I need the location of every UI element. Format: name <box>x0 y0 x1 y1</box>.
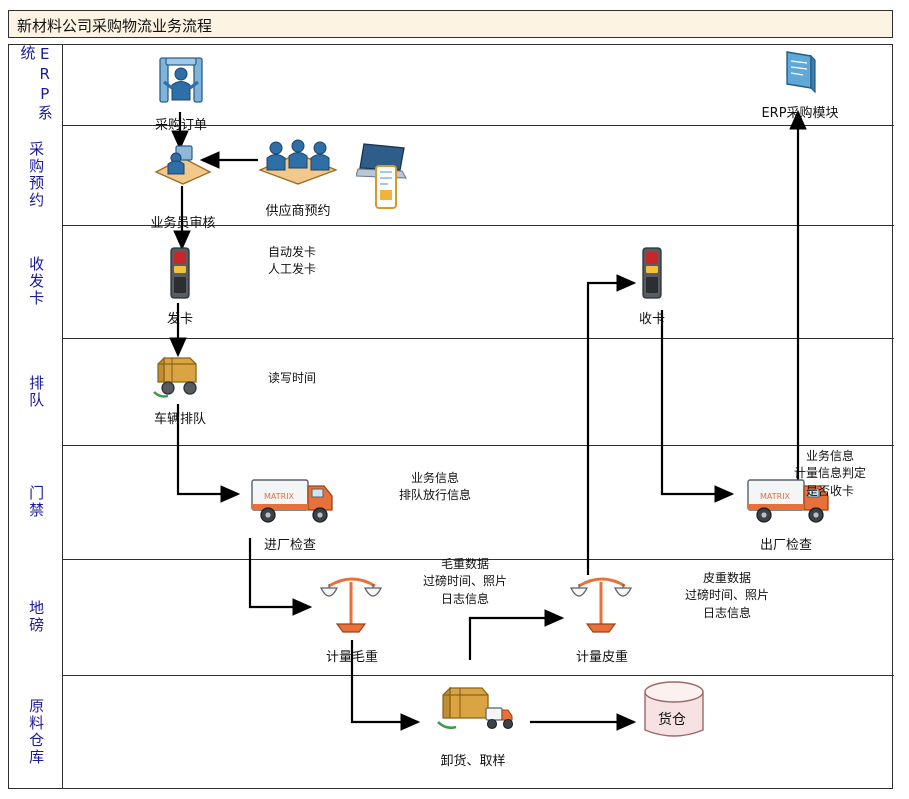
lane-label-warehouse: 原料仓库 <box>9 675 63 788</box>
node-purchase-order[interactable]: 采购订单 <box>135 52 227 133</box>
node-label: 计量皮重 <box>552 646 652 665</box>
note-line: 计量信息判定 <box>770 465 890 482</box>
note-line: 业务信息 <box>770 448 890 465</box>
node-erp-module[interactable]: ERP采购模块 <box>748 48 852 121</box>
svg-text:货仓: 货仓 <box>658 711 686 728</box>
node-label: 发卡 <box>150 308 210 327</box>
lane-divider <box>9 338 894 339</box>
balance-scale-icon <box>567 570 637 640</box>
note-tare-info: 皮重数据 过磅时间、照片 日志信息 <box>662 570 792 622</box>
note-gross-info: 毛重数据 过磅时间、照片 日志信息 <box>400 556 530 608</box>
lane-label-text: 门禁 <box>27 485 44 519</box>
cylinder-store-icon: 货仓 <box>637 680 711 742</box>
lane-label-gate: 门禁 <box>9 445 63 559</box>
note-line: 毛重数据 <box>400 556 530 573</box>
flowchart-page: 新材料公司采购物流业务流程 ERP系统 采购预约 收发卡 排队 门禁 地磅 <box>0 0 909 799</box>
people-group-icon <box>254 136 342 188</box>
node-label: ERP采购模块 <box>748 102 852 121</box>
card-kiosk-icon <box>167 246 193 300</box>
document-blue-icon <box>781 48 819 94</box>
node-laptop[interactable] <box>356 140 412 214</box>
lane-label-text: 采购预约 <box>27 141 44 209</box>
note-read-write: 读写时间 <box>232 370 352 387</box>
node-unload-sample[interactable]: 卸货、取样 <box>418 682 528 769</box>
node-label: 供应商预约 <box>248 200 348 219</box>
lane-label-text: 地磅 <box>27 600 44 634</box>
lane-label-booking: 采购预约 <box>9 125 63 225</box>
note-line: 读写时间 <box>232 370 352 387</box>
lane-divider <box>9 675 894 676</box>
node-label: 采购订单 <box>135 114 227 133</box>
node-label: 收卡 <box>622 308 682 327</box>
person-desk-icon <box>152 142 214 188</box>
note-gate-out-info: 业务信息 计量信息判定 是否收卡 <box>770 448 890 500</box>
note-line: 皮重数据 <box>662 570 792 587</box>
lane-label-text: ERP系统 <box>18 45 53 125</box>
page-title: 新材料公司采购物流业务流程 <box>17 15 212 36</box>
node-vehicle-queue[interactable]: 车辆排队 <box>138 352 222 427</box>
node-supplier-booking[interactable]: 供应商预约 <box>248 136 348 219</box>
lane-divider <box>9 445 894 446</box>
node-gross-weigh[interactable]: 计量毛重 <box>302 570 402 665</box>
note-line: 自动发卡 <box>232 244 352 261</box>
node-label: 出厂检查 <box>736 534 836 553</box>
parcel-cart-icon <box>150 352 210 400</box>
node-clerk-review[interactable]: 业务员审核 <box>135 142 231 231</box>
node-goods-warehouse[interactable]: 货仓 <box>634 680 714 746</box>
note-line: 日志信息 <box>400 591 530 608</box>
person-gate-icon <box>158 52 204 108</box>
svg-text:MATRIX: MATRIX <box>264 492 295 501</box>
note-line: 排队放行信息 <box>370 487 500 504</box>
lane-label-card: 收发卡 <box>9 225 63 338</box>
diagram-title-bar: 新材料公司采购物流业务流程 <box>8 10 893 38</box>
note-line: 是否收卡 <box>770 483 890 500</box>
node-tare-weigh[interactable]: 计量皮重 <box>552 570 652 665</box>
card-kiosk-icon <box>639 246 665 300</box>
node-label: 卸货、取样 <box>418 750 528 769</box>
node-label: 车辆排队 <box>138 408 222 427</box>
lane-label-text: 排队 <box>27 375 44 409</box>
lane-label-text: 原料仓库 <box>27 698 44 766</box>
lane-label-text: 收发卡 <box>27 256 44 307</box>
node-label: 进厂检查 <box>240 534 340 553</box>
note-gate-in-info: 业务信息 排队放行信息 <box>370 470 500 505</box>
node-label: 业务员审核 <box>135 212 231 231</box>
laptop-icon <box>356 140 412 210</box>
note-line: 人工发卡 <box>232 261 352 278</box>
note-line: 过磅时间、照片 <box>400 573 530 590</box>
node-issue-card[interactable]: 发卡 <box>150 246 210 327</box>
lane-label-queue: 排队 <box>9 338 63 445</box>
node-label: 计量毛重 <box>302 646 402 665</box>
truck-icon: MATRIX <box>242 472 338 528</box>
lane-label-scale: 地磅 <box>9 559 63 675</box>
note-card-modes: 自动发卡 人工发卡 <box>232 244 352 279</box>
node-entry-check[interactable]: MATRIX 进厂检查 <box>240 472 340 553</box>
balance-scale-icon <box>317 570 387 640</box>
note-line: 过磅时间、照片 <box>662 587 792 604</box>
parcel-truck-icon <box>430 682 516 744</box>
node-collect-card[interactable]: 收卡 <box>622 246 682 327</box>
note-line: 业务信息 <box>370 470 500 487</box>
note-line: 日志信息 <box>662 605 792 622</box>
lane-label-erp: ERP系统 <box>9 45 63 125</box>
